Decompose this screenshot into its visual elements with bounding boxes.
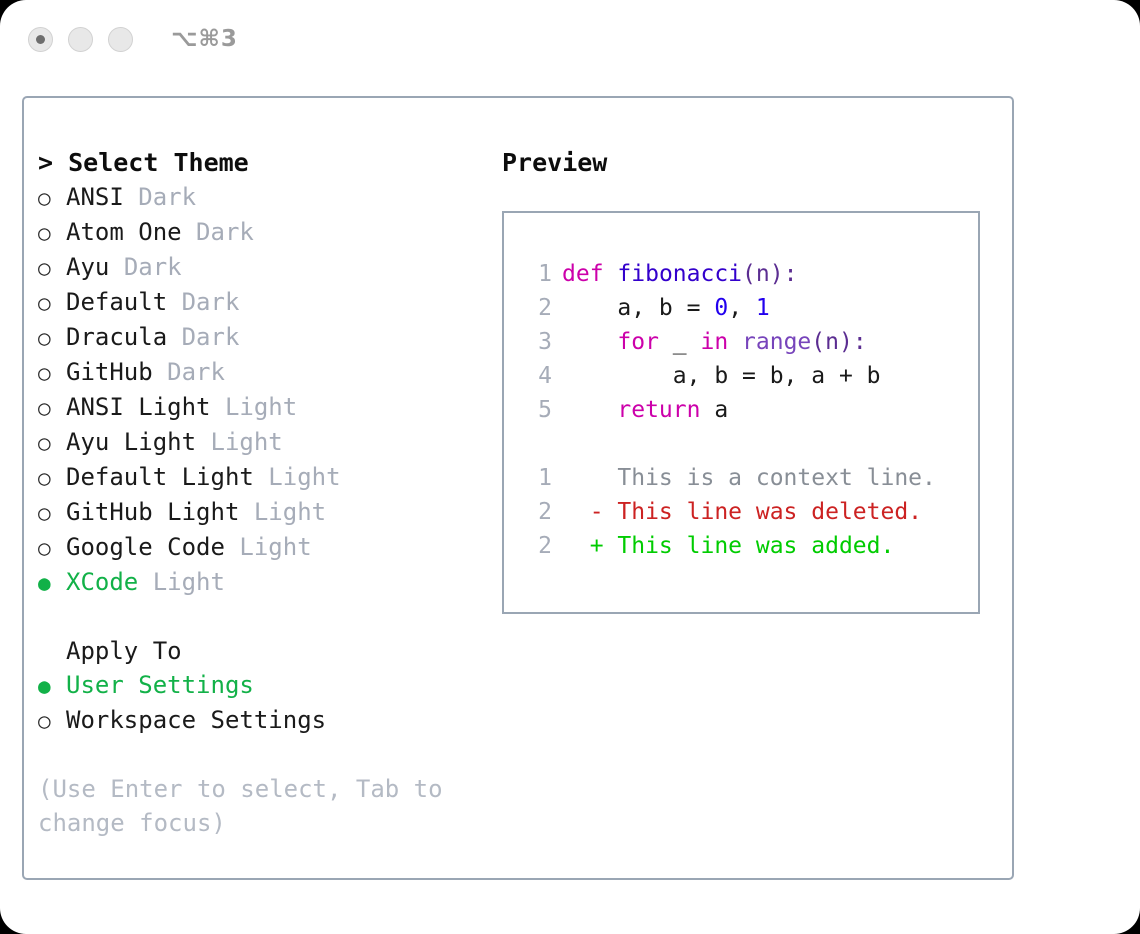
radio-unselected-icon: ○ bbox=[38, 496, 66, 530]
theme-variant-label: Light bbox=[254, 495, 326, 529]
code-line-content: def fibonacci(n): bbox=[562, 257, 797, 291]
theme-variant-label: Dark bbox=[138, 180, 196, 214]
theme-list-item[interactable]: ○Default Light Light bbox=[38, 460, 494, 495]
line-number: 2 bbox=[522, 291, 552, 325]
code-token bbox=[604, 261, 618, 287]
code-token: ): bbox=[839, 329, 867, 355]
diff-marker: + bbox=[562, 529, 604, 563]
theme-list-item[interactable]: ○Google Code Light bbox=[38, 530, 494, 565]
preview-heading: Preview bbox=[502, 146, 1012, 180]
theme-variant-label: Dark bbox=[182, 285, 240, 319]
radio-unselected-icon: ○ bbox=[38, 531, 66, 565]
code-token bbox=[562, 397, 617, 423]
theme-picker-column: > Select Theme ○ANSI Dark○Atom One Dark○… bbox=[24, 98, 494, 878]
apply-to-label: Workspace Settings bbox=[66, 703, 326, 737]
theme-variant-label: Light bbox=[153, 565, 225, 599]
line-number: 1 bbox=[522, 461, 552, 495]
theme-name-label: XCode bbox=[66, 565, 138, 599]
code-token: a, b = bbox=[562, 295, 714, 321]
terminal-window: ⌥⌘3 > Select Theme ○ANSI Dark○Atom One D… bbox=[0, 0, 1140, 934]
label-spacer bbox=[239, 495, 253, 529]
window-dot-3[interactable] bbox=[108, 27, 133, 52]
theme-list-item[interactable]: ○GitHub Light Light bbox=[38, 495, 494, 530]
code-token: n bbox=[825, 329, 839, 355]
code-line-content: a, b = b, a + b bbox=[562, 359, 881, 393]
code-token: fibonacci bbox=[617, 261, 742, 287]
apply-to-list: ●User Settings○Workspace Settings bbox=[38, 668, 494, 738]
theme-list-item[interactable]: ○GitHub Dark bbox=[38, 355, 494, 390]
code-token: _ bbox=[659, 329, 701, 355]
keyboard-shortcut-label: ⌥⌘3 bbox=[171, 26, 238, 52]
window-dot-active[interactable] bbox=[28, 27, 53, 52]
code-line: 5 return a bbox=[522, 393, 978, 427]
diff-marker: - bbox=[562, 495, 604, 529]
active-indicator-dot bbox=[36, 35, 45, 44]
radio-selected-icon: ● bbox=[38, 669, 66, 703]
radio-unselected-icon: ○ bbox=[38, 216, 66, 250]
code-line: 4 a, b = b, a + b bbox=[522, 359, 978, 393]
apply-to-label: User Settings bbox=[66, 668, 254, 702]
radio-unselected-icon: ○ bbox=[38, 704, 66, 738]
code-token: , bbox=[728, 295, 756, 321]
code-token: a bbox=[700, 397, 728, 423]
apply-to-heading: Apply To bbox=[38, 634, 494, 668]
code-token bbox=[562, 329, 617, 355]
code-line: 1def fibonacci(n): bbox=[522, 257, 978, 291]
select-theme-heading: > Select Theme bbox=[38, 146, 494, 180]
theme-variant-label: Light bbox=[225, 390, 297, 424]
theme-list-item[interactable]: ○Dracula Dark bbox=[38, 320, 494, 355]
theme-variant-label: Light bbox=[239, 530, 311, 564]
radio-unselected-icon: ○ bbox=[38, 181, 66, 215]
code-token: ): bbox=[770, 261, 798, 287]
radio-unselected-icon: ○ bbox=[38, 391, 66, 425]
theme-list-item[interactable]: ○Ayu Light Light bbox=[38, 425, 494, 460]
code-token: n bbox=[756, 261, 770, 287]
window-titlebar: ⌥⌘3 bbox=[0, 0, 1140, 78]
diff-marker bbox=[562, 461, 604, 495]
radio-unselected-icon: ○ bbox=[38, 461, 66, 495]
label-spacer bbox=[167, 285, 181, 319]
code-sample: 1def fibonacci(n):2 a, b = 0, 13 for _ i… bbox=[522, 257, 978, 427]
theme-name-label: ANSI bbox=[66, 180, 124, 214]
theme-list-item[interactable]: ○ANSI Dark bbox=[38, 180, 494, 215]
label-spacer bbox=[167, 320, 181, 354]
code-token: return bbox=[617, 397, 700, 423]
code-token: def bbox=[562, 261, 604, 287]
theme-name-label: GitHub Light bbox=[66, 495, 239, 529]
theme-name-label: Ayu Light bbox=[66, 425, 196, 459]
theme-variant-label: Dark bbox=[196, 215, 254, 249]
theme-variant-label: Dark bbox=[182, 320, 240, 354]
code-line-content: return a bbox=[562, 393, 728, 427]
theme-list-item[interactable]: ●XCode Light bbox=[38, 565, 494, 600]
apply-to-item[interactable]: ●User Settings bbox=[38, 668, 494, 703]
label-spacer bbox=[211, 390, 225, 424]
apply-to-item[interactable]: ○Workspace Settings bbox=[38, 703, 494, 738]
radio-unselected-icon: ○ bbox=[38, 321, 66, 355]
label-spacer bbox=[182, 215, 196, 249]
diff-text: This line was deleted. bbox=[604, 495, 923, 529]
line-number: 5 bbox=[522, 393, 552, 427]
code-line-content: for _ in range(n): bbox=[562, 325, 867, 359]
line-number: 2 bbox=[522, 529, 552, 563]
theme-name-label: Atom One bbox=[66, 215, 182, 249]
code-line-content: a, b = 0, 1 bbox=[562, 291, 770, 325]
main-panel: > Select Theme ○ANSI Dark○Atom One Dark○… bbox=[22, 96, 1014, 880]
code-diff-separator bbox=[522, 427, 978, 461]
spacer bbox=[38, 600, 494, 634]
code-token: 1 bbox=[756, 295, 770, 321]
keyboard-hint-text: (Use Enter to select, Tab to change focu… bbox=[38, 772, 458, 840]
theme-name-label: GitHub bbox=[66, 355, 153, 389]
code-line: 3 for _ in range(n): bbox=[522, 325, 978, 359]
spacer-2 bbox=[38, 738, 494, 772]
preview-column: Preview 1def fibonacci(n):2 a, b = 0, 13… bbox=[494, 98, 1012, 878]
radio-unselected-icon: ○ bbox=[38, 356, 66, 390]
code-token: in bbox=[700, 329, 728, 355]
theme-list-item[interactable]: ○ANSI Light Light bbox=[38, 390, 494, 425]
theme-variant-label: Light bbox=[211, 425, 283, 459]
theme-variant-label: Dark bbox=[124, 250, 182, 284]
preview-box: 1def fibonacci(n):2 a, b = 0, 13 for _ i… bbox=[502, 211, 980, 614]
diff-line: 1 This is a context line. bbox=[522, 461, 978, 495]
radio-unselected-icon: ○ bbox=[38, 426, 66, 460]
theme-variant-label: Light bbox=[268, 460, 340, 494]
label-spacer bbox=[138, 565, 152, 599]
label-spacer bbox=[225, 530, 239, 564]
window-controls bbox=[28, 27, 133, 52]
code-token: ( bbox=[742, 261, 756, 287]
radio-unselected-icon: ○ bbox=[38, 251, 66, 285]
code-token: 0 bbox=[714, 295, 728, 321]
theme-name-label: ANSI Light bbox=[66, 390, 211, 424]
code-line: 2 a, b = 0, 1 bbox=[522, 291, 978, 325]
theme-variant-label: Dark bbox=[167, 355, 225, 389]
label-spacer bbox=[153, 355, 167, 389]
diff-text: This is a context line. bbox=[604, 461, 936, 495]
radio-unselected-icon: ○ bbox=[38, 286, 66, 320]
diff-line: 2 + This line was added. bbox=[522, 529, 978, 563]
diff-line: 2 - This line was deleted. bbox=[522, 495, 978, 529]
line-number: 2 bbox=[522, 495, 552, 529]
theme-list-item[interactable]: ○Ayu Dark bbox=[38, 250, 494, 285]
code-token: for bbox=[617, 329, 659, 355]
theme-name-label: Ayu bbox=[66, 250, 109, 284]
label-spacer bbox=[124, 180, 138, 214]
label-spacer bbox=[254, 460, 268, 494]
code-token: ( bbox=[811, 329, 825, 355]
theme-name-label: Default bbox=[66, 285, 167, 319]
line-number: 1 bbox=[522, 257, 552, 291]
line-number: 3 bbox=[522, 325, 552, 359]
code-token bbox=[728, 329, 742, 355]
radio-selected-icon: ● bbox=[38, 566, 66, 600]
label-spacer bbox=[109, 250, 123, 284]
theme-name-label: Google Code bbox=[66, 530, 225, 564]
line-number: 4 bbox=[522, 359, 552, 393]
window-dot-2[interactable] bbox=[68, 27, 93, 52]
code-token: a, b = b, a + b bbox=[562, 363, 881, 389]
diff-sample: 1 This is a context line.2 - This line w… bbox=[522, 461, 978, 563]
theme-list-item[interactable]: ○Default Dark bbox=[38, 285, 494, 320]
code-token: range bbox=[742, 329, 811, 355]
theme-name-label: Default Light bbox=[66, 460, 254, 494]
label-spacer bbox=[196, 425, 210, 459]
theme-list-item[interactable]: ○Atom One Dark bbox=[38, 215, 494, 250]
theme-name-label: Dracula bbox=[66, 320, 167, 354]
diff-text: This line was added. bbox=[604, 529, 895, 563]
theme-list: ○ANSI Dark○Atom One Dark○Ayu Dark○Defaul… bbox=[38, 180, 494, 600]
